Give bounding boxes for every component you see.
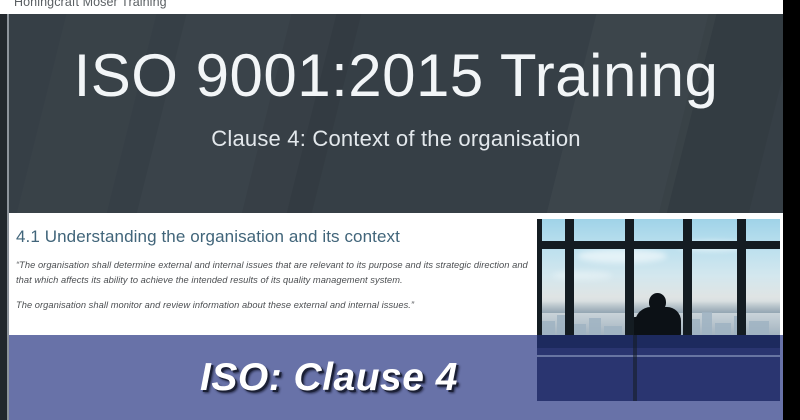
section-heading: 4.1 Understanding the organisation and i… <box>16 227 400 247</box>
body-paragraph: “The organisation shall determine extern… <box>16 258 532 288</box>
photo-cloud <box>552 271 612 280</box>
window-city-photo <box>537 219 780 337</box>
slide-caption: ISO: Clause 4 <box>9 356 649 400</box>
slide-header: ISO 9001:2015 Training Clause 4: Context… <box>9 14 783 213</box>
body-paragraph: The organisation shall monitor and revie… <box>16 298 532 313</box>
window-mullion-vertical <box>625 219 634 337</box>
photo-cloud <box>577 249 667 263</box>
slide-title: ISO 9001:2015 Training <box>9 46 783 106</box>
right-gutter <box>783 0 800 420</box>
person-silhouette <box>635 293 681 337</box>
window-mullion-vertical <box>565 219 574 337</box>
left-gutter-highlight <box>7 14 9 420</box>
window-mullion-vertical <box>683 219 692 337</box>
slide-screenshot: Honingcraft Moser Training ISO 9001:2015… <box>0 0 800 420</box>
app-title-text: Honingcraft Moser Training <box>14 0 167 9</box>
body-copy: “The organisation shall determine extern… <box>16 258 532 313</box>
window-mullion-horizontal <box>537 241 780 249</box>
window-frame-edge <box>537 219 542 337</box>
photo-overlay-shadow <box>537 335 780 348</box>
photo-building <box>702 312 712 337</box>
window-mullion-vertical <box>737 219 746 337</box>
slide-subtitle: Clause 4: Context of the organisation <box>9 126 783 152</box>
